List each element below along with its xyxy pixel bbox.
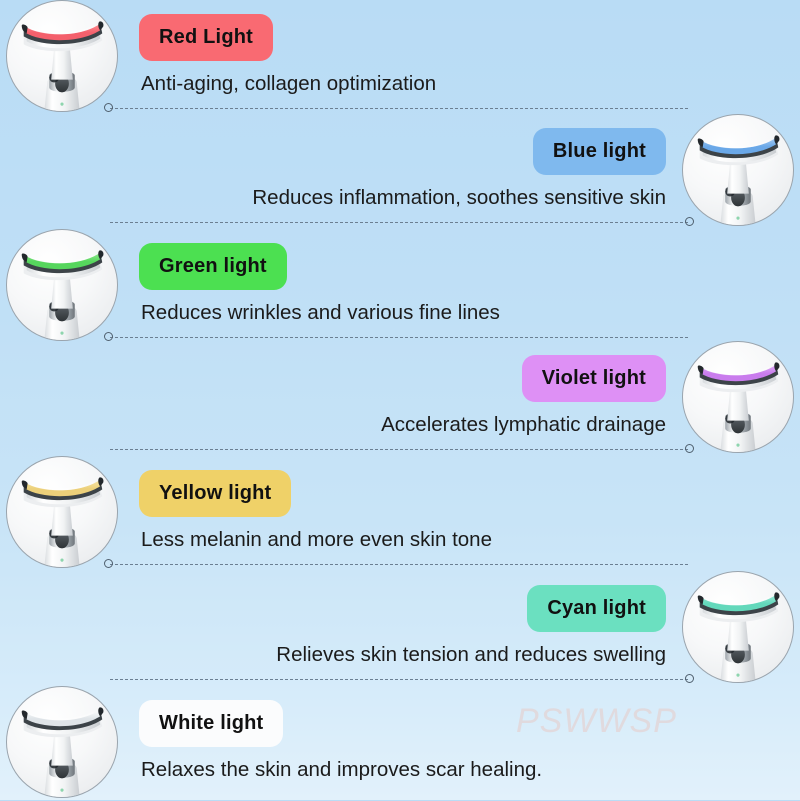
- product-photo-blue: [682, 114, 794, 226]
- product-photo-yellow: [6, 456, 118, 568]
- connector-line-violet: [110, 449, 688, 451]
- product-photo-red: [6, 0, 118, 112]
- connector-line-red: [110, 108, 688, 110]
- mode-description-violet: Accelerates lymphatic drainage: [381, 413, 666, 437]
- beauty-device-icon: [7, 230, 117, 340]
- mode-badge-cyan[interactable]: Cyan light: [527, 585, 666, 632]
- beauty-device-icon: [7, 457, 117, 567]
- connector-node-icon-green: [104, 332, 113, 341]
- mode-row-white: White lightRelaxes the skin and improves…: [0, 686, 800, 801]
- connector-node-icon-yellow: [104, 559, 113, 568]
- mode-row-cyan: Cyan lightRelieves skin tension and redu…: [0, 571, 800, 686]
- connector-node-icon-red: [104, 103, 113, 112]
- mode-description-green: Reduces wrinkles and various fine lines: [141, 301, 500, 325]
- mode-badge-blue[interactable]: Blue light: [533, 128, 666, 175]
- connector-node-icon-cyan: [685, 674, 694, 683]
- mode-badge-red[interactable]: Red Light: [139, 14, 273, 61]
- mode-description-red: Anti-aging, collagen optimization: [141, 72, 436, 96]
- product-photo-cyan: [682, 571, 794, 683]
- connector-line-blue: [110, 222, 688, 224]
- mode-description-yellow: Less melanin and more even skin tone: [141, 528, 492, 552]
- light-therapy-infographic: Red LightAnti-aging, collagen optimizati…: [0, 0, 800, 800]
- connector-line-cyan: [110, 679, 688, 681]
- mode-row-green: Green lightReduces wrinkles and various …: [0, 229, 800, 344]
- connector-node-icon-blue: [685, 217, 694, 226]
- mode-row-blue: Blue lightReduces inflammation, soothes …: [0, 114, 800, 229]
- connector-node-icon-violet: [685, 444, 694, 453]
- beauty-device-icon: [683, 572, 793, 682]
- beauty-device-icon: [7, 1, 117, 111]
- mode-description-cyan: Relieves skin tension and reduces swelli…: [276, 643, 666, 667]
- mode-row-violet: Violet lightAccelerates lymphatic draina…: [0, 341, 800, 456]
- product-photo-green: [6, 229, 118, 341]
- mode-badge-green[interactable]: Green light: [139, 243, 287, 290]
- mode-description-blue: Reduces inflammation, soothes sensitive …: [252, 186, 666, 210]
- mode-badge-yellow[interactable]: Yellow light: [139, 470, 291, 517]
- connector-line-yellow: [110, 564, 688, 566]
- mode-description-white: Relaxes the skin and improves scar heali…: [141, 758, 542, 782]
- mode-row-yellow: Yellow lightLess melanin and more even s…: [0, 456, 800, 571]
- mode-row-red: Red LightAnti-aging, collagen optimizati…: [0, 0, 800, 115]
- product-photo-white: [6, 686, 118, 798]
- mode-badge-violet[interactable]: Violet light: [522, 355, 666, 402]
- beauty-device-icon: [7, 687, 117, 797]
- beauty-device-icon: [683, 115, 793, 225]
- product-photo-violet: [682, 341, 794, 453]
- beauty-device-icon: [683, 342, 793, 452]
- mode-badge-white[interactable]: White light: [139, 700, 283, 747]
- connector-line-green: [110, 337, 688, 339]
